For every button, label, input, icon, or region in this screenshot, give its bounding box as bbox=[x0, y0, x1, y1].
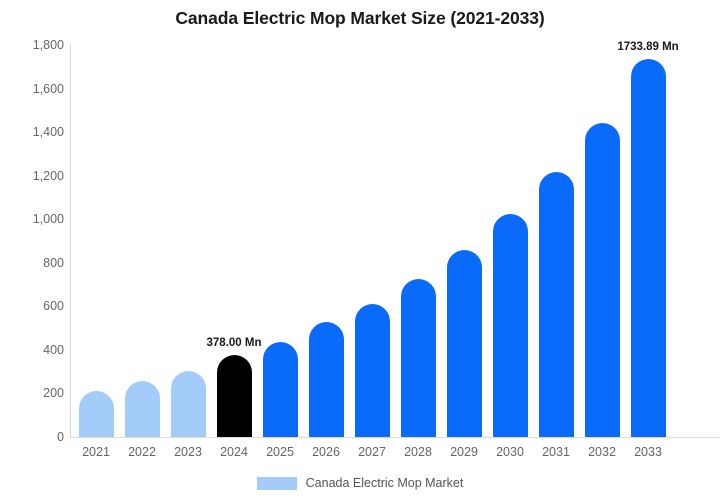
bar-group[interactable] bbox=[355, 45, 390, 437]
bar[interactable] bbox=[631, 59, 666, 437]
x-tick-label: 2030 bbox=[487, 445, 533, 459]
chart-container: Canada Electric Mop Market Size (2021-20… bbox=[0, 0, 720, 500]
y-tick-label: 1,400 bbox=[4, 125, 64, 139]
bar[interactable] bbox=[355, 304, 390, 437]
y-tick-label: 400 bbox=[4, 343, 64, 357]
bar-group[interactable] bbox=[493, 45, 528, 437]
y-tick-label: 200 bbox=[4, 386, 64, 400]
x-tick-label: 2022 bbox=[119, 445, 165, 459]
bar[interactable] bbox=[217, 355, 252, 437]
x-tick-label: 2023 bbox=[165, 445, 211, 459]
y-tick-label: 600 bbox=[4, 299, 64, 313]
x-axis: 2021202220232024202520262027202820292030… bbox=[70, 445, 720, 467]
bar[interactable] bbox=[401, 279, 436, 437]
bar-value-label: 1733.89 Mn bbox=[617, 41, 678, 53]
y-tick-label: 0 bbox=[4, 430, 64, 444]
x-tick-label: 2026 bbox=[303, 445, 349, 459]
x-tick-label: 2027 bbox=[349, 445, 395, 459]
plot-area: 378.00 Mn1733.89 Mn bbox=[70, 45, 720, 437]
x-tick-label: 2033 bbox=[625, 445, 671, 459]
bar-group[interactable] bbox=[309, 45, 344, 437]
y-tick-label: 1,200 bbox=[4, 169, 64, 183]
chart-title: Canada Electric Mop Market Size (2021-20… bbox=[0, 8, 720, 29]
bar-group[interactable] bbox=[263, 45, 298, 437]
bar-group[interactable] bbox=[585, 45, 620, 437]
y-tick-label: 800 bbox=[4, 256, 64, 270]
y-axis: 02004006008001,0001,2001,4001,6001,800 bbox=[0, 0, 64, 500]
bar[interactable] bbox=[539, 172, 574, 437]
bar-group[interactable] bbox=[631, 45, 666, 437]
bar[interactable] bbox=[309, 322, 344, 437]
x-tick-label: 2024 bbox=[211, 445, 257, 459]
y-tick-label: 1,800 bbox=[4, 38, 64, 52]
x-tick-label: 2021 bbox=[73, 445, 119, 459]
bar-group[interactable] bbox=[171, 45, 206, 437]
bar[interactable] bbox=[447, 250, 482, 438]
chart-legend: Canada Electric Mop Market bbox=[0, 476, 720, 490]
bar[interactable] bbox=[585, 123, 620, 437]
legend-swatch-icon bbox=[257, 477, 297, 490]
bar-group[interactable] bbox=[79, 45, 114, 437]
bar[interactable] bbox=[125, 381, 160, 437]
legend-label: Canada Electric Mop Market bbox=[306, 476, 464, 490]
bar-group[interactable] bbox=[539, 45, 574, 437]
bar-group[interactable] bbox=[447, 45, 482, 437]
x-tick-label: 2032 bbox=[579, 445, 625, 459]
x-tick-label: 2028 bbox=[395, 445, 441, 459]
bar-group[interactable] bbox=[125, 45, 160, 437]
x-axis-baseline bbox=[70, 437, 720, 438]
bar[interactable] bbox=[263, 342, 298, 437]
x-tick-label: 2029 bbox=[441, 445, 487, 459]
bar[interactable] bbox=[79, 391, 114, 437]
bar[interactable] bbox=[171, 371, 206, 437]
bar-value-label: 378.00 Mn bbox=[207, 337, 262, 349]
bar[interactable] bbox=[493, 214, 528, 437]
bar-group[interactable] bbox=[401, 45, 436, 437]
y-tick-label: 1,600 bbox=[4, 82, 64, 96]
x-tick-label: 2025 bbox=[257, 445, 303, 459]
bar-group[interactable] bbox=[217, 45, 252, 437]
y-tick-label: 1,000 bbox=[4, 212, 64, 226]
x-tick-label: 2031 bbox=[533, 445, 579, 459]
